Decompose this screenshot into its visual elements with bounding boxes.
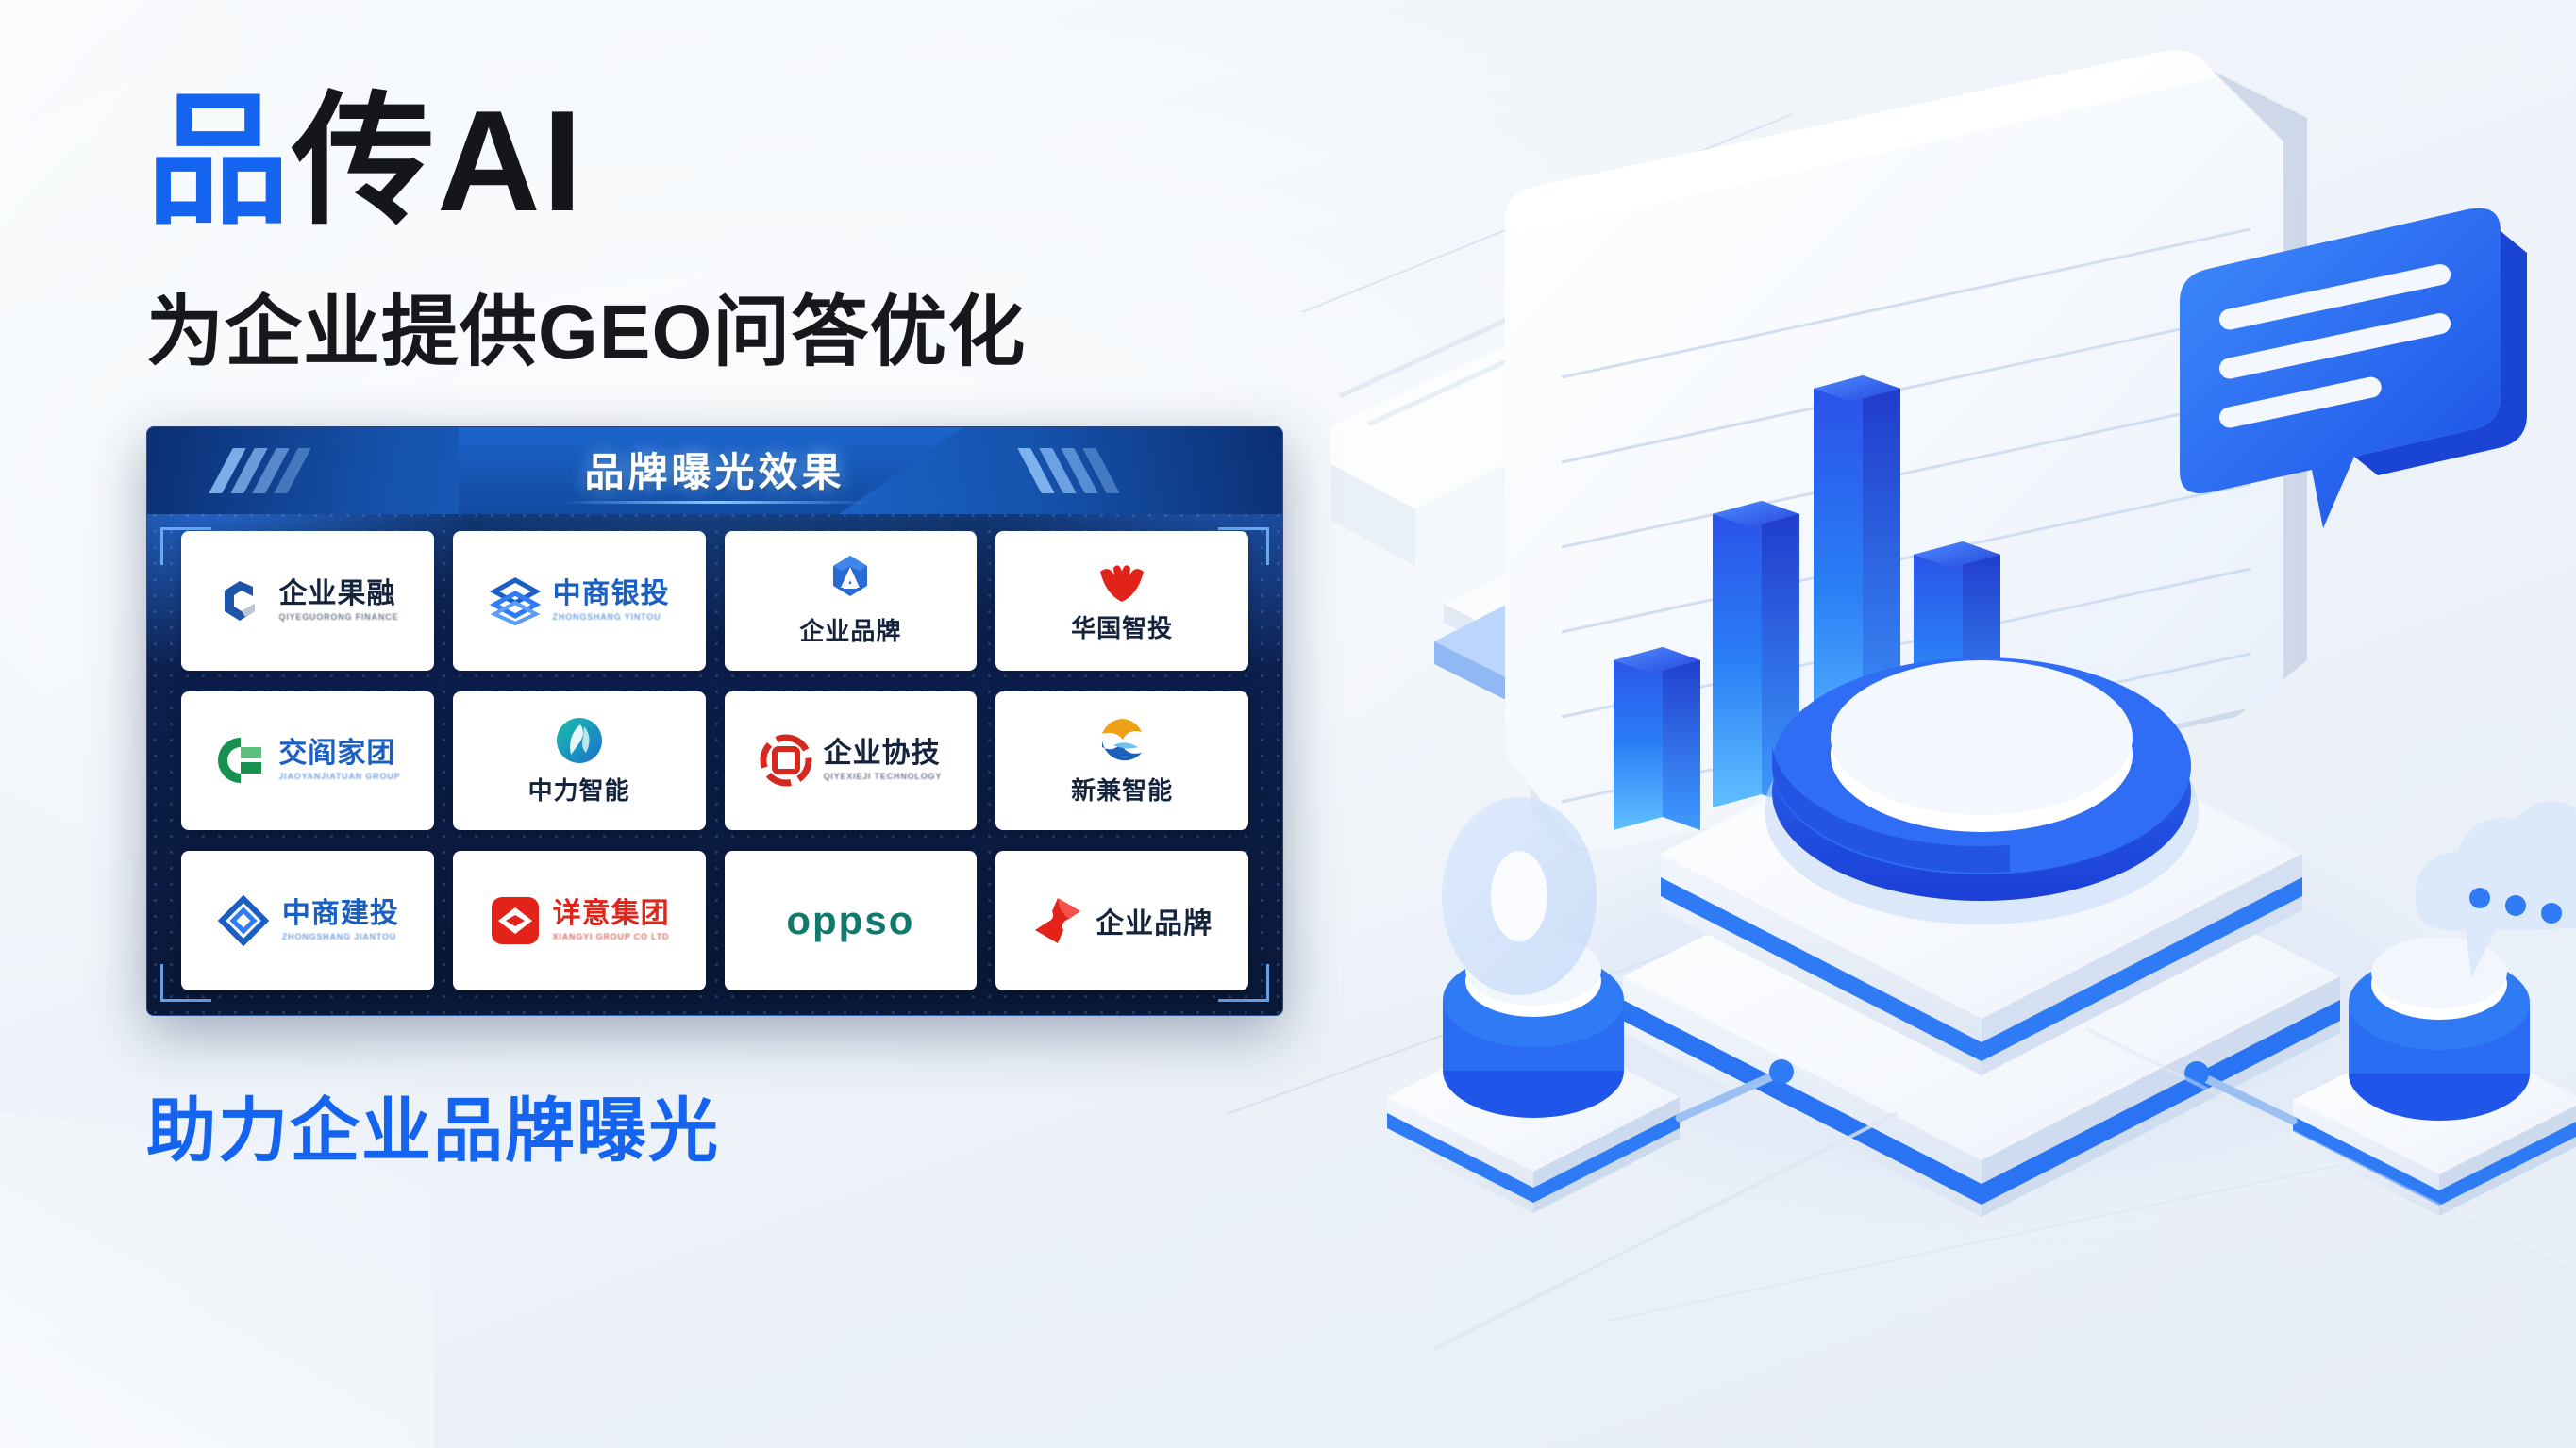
panel-title-underline: [560, 501, 871, 504]
logo-card[interactable]: 新兼智能: [995, 691, 1248, 831]
logo-grid: 企业果融 QIYEGUORONG FINANCE 中商银投 ZHONGSHANG…: [181, 531, 1248, 990]
page-title: 品传AI: [146, 90, 1335, 233]
brand-title-accent: 品: [146, 81, 292, 241]
red-swoosh-icon: [1031, 894, 1084, 947]
hero-illustration: [1330, 0, 2576, 1448]
logo-name: 详意集团: [553, 900, 670, 928]
blue-rhombus-icon: [216, 893, 271, 948]
logo-card[interactable]: 交阎家团 JIAOYANJIATUAN GROUP: [181, 691, 434, 831]
logo-name: 企业品牌: [799, 612, 901, 647]
swirl-icon: [1095, 715, 1149, 766]
logo-name: 交阎家团: [278, 740, 400, 768]
page-subtitle: 为企业提供GEO问答优化: [146, 269, 1335, 381]
c-shield-icon: [217, 575, 268, 626]
logo-name: 新兼智能: [1071, 772, 1173, 807]
panel-header: 品牌曝光效果: [147, 427, 1282, 514]
red-square-icon: [489, 894, 542, 947]
panel-title: 品牌曝光效果: [147, 441, 1282, 498]
logo-name: 企业协技: [824, 740, 943, 768]
hero-content: 品传AI 为企业提供GEO问答优化 品牌曝光效果: [146, 90, 1335, 1175]
logo-card[interactable]: 中商建投 ZHONGSHANG JIANTOU: [181, 851, 434, 990]
logo-card[interactable]: 详意集团 XIANGYI GROUP CO LTD: [453, 851, 706, 990]
logo-subtitle: XIANGYI GROUP CO LTD: [553, 933, 670, 941]
logo-card[interactable]: 企业果融 QIYEGUORONG FINANCE: [181, 531, 434, 671]
layered-rhombus-icon: [489, 574, 542, 627]
logo-subtitle: QIYEGUORONG FINANCE: [279, 613, 399, 622]
logo-card[interactable]: 企业协技 QIYEXIEJI TECHNOLOGY: [725, 691, 978, 831]
red-gear-icon: [760, 734, 812, 787]
logo-name: 企业品牌: [1096, 900, 1213, 941]
ring-podium: [1765, 657, 2199, 924]
logo-subtitle: QIYEXIEJI TECHNOLOGY: [824, 773, 943, 781]
chart-bar-1: [1614, 647, 1700, 830]
logo-card[interactable]: 华国智投: [995, 531, 1248, 671]
ring-disc: [1442, 797, 1597, 995]
logo-name: 中商建投: [282, 900, 399, 928]
logo-subtitle: ZHONGSHANG JIANTOU: [282, 933, 399, 941]
logo-card[interactable]: 中力智能: [453, 691, 706, 831]
logo-name: 中力智能: [528, 772, 630, 807]
logo-name: 华国智投: [1071, 609, 1173, 644]
logo-card[interactable]: 中商银投 ZHONGSHANG YINTOU: [453, 531, 706, 671]
logo-name: 中商银投: [553, 580, 670, 608]
page-tagline: 助力企业品牌曝光: [146, 1074, 1335, 1175]
logo-subtitle: JIAOYANJIATUAN GROUP: [278, 773, 400, 781]
logo-card[interactable]: 企业品牌: [725, 531, 978, 671]
red-fan-icon: [1091, 557, 1153, 604]
brand-showcase-panel: 品牌曝光效果 企业果融 QIYEGUORONG FINANCE: [146, 426, 1283, 1016]
logo-name: oppso: [786, 898, 914, 943]
logo-name: 企业果融: [279, 580, 399, 608]
logo-card[interactable]: oppso: [725, 851, 978, 990]
brand-title-rest: 传AI: [292, 81, 584, 241]
teal-orb-icon: [552, 715, 607, 766]
green-c-icon: [214, 734, 267, 787]
logo-card[interactable]: 企业品牌: [995, 851, 1248, 990]
hex-arrow-icon: [822, 554, 878, 607]
logo-subtitle: ZHONGSHANG YINTOU: [553, 613, 670, 622]
